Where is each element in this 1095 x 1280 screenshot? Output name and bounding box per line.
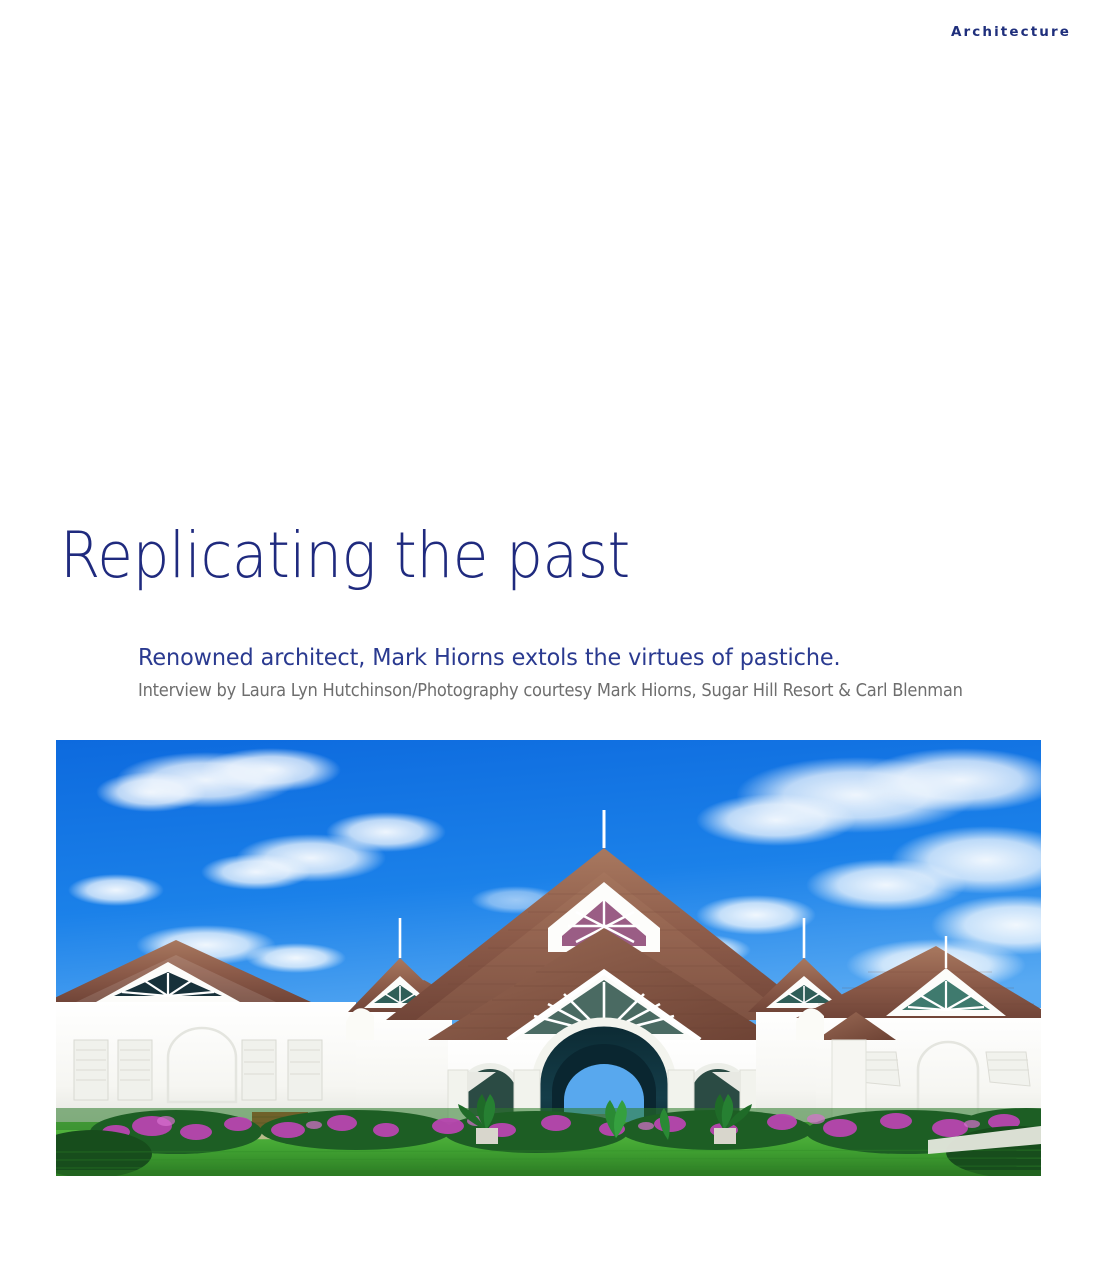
magazine-page: Architecture Replicating the past Renown… bbox=[0, 0, 1095, 1280]
article-deck: Renowned architect, Mark Hiorns extols t… bbox=[138, 643, 841, 671]
section-kicker: Architecture bbox=[951, 24, 1071, 40]
article-headline: Replicating the past bbox=[60, 524, 630, 587]
article-credit-line: Interview by Laura Lyn Hutchinson/Photog… bbox=[138, 681, 963, 701]
hero-photograph-illustration bbox=[56, 740, 1041, 1176]
hero-photograph bbox=[56, 740, 1041, 1176]
